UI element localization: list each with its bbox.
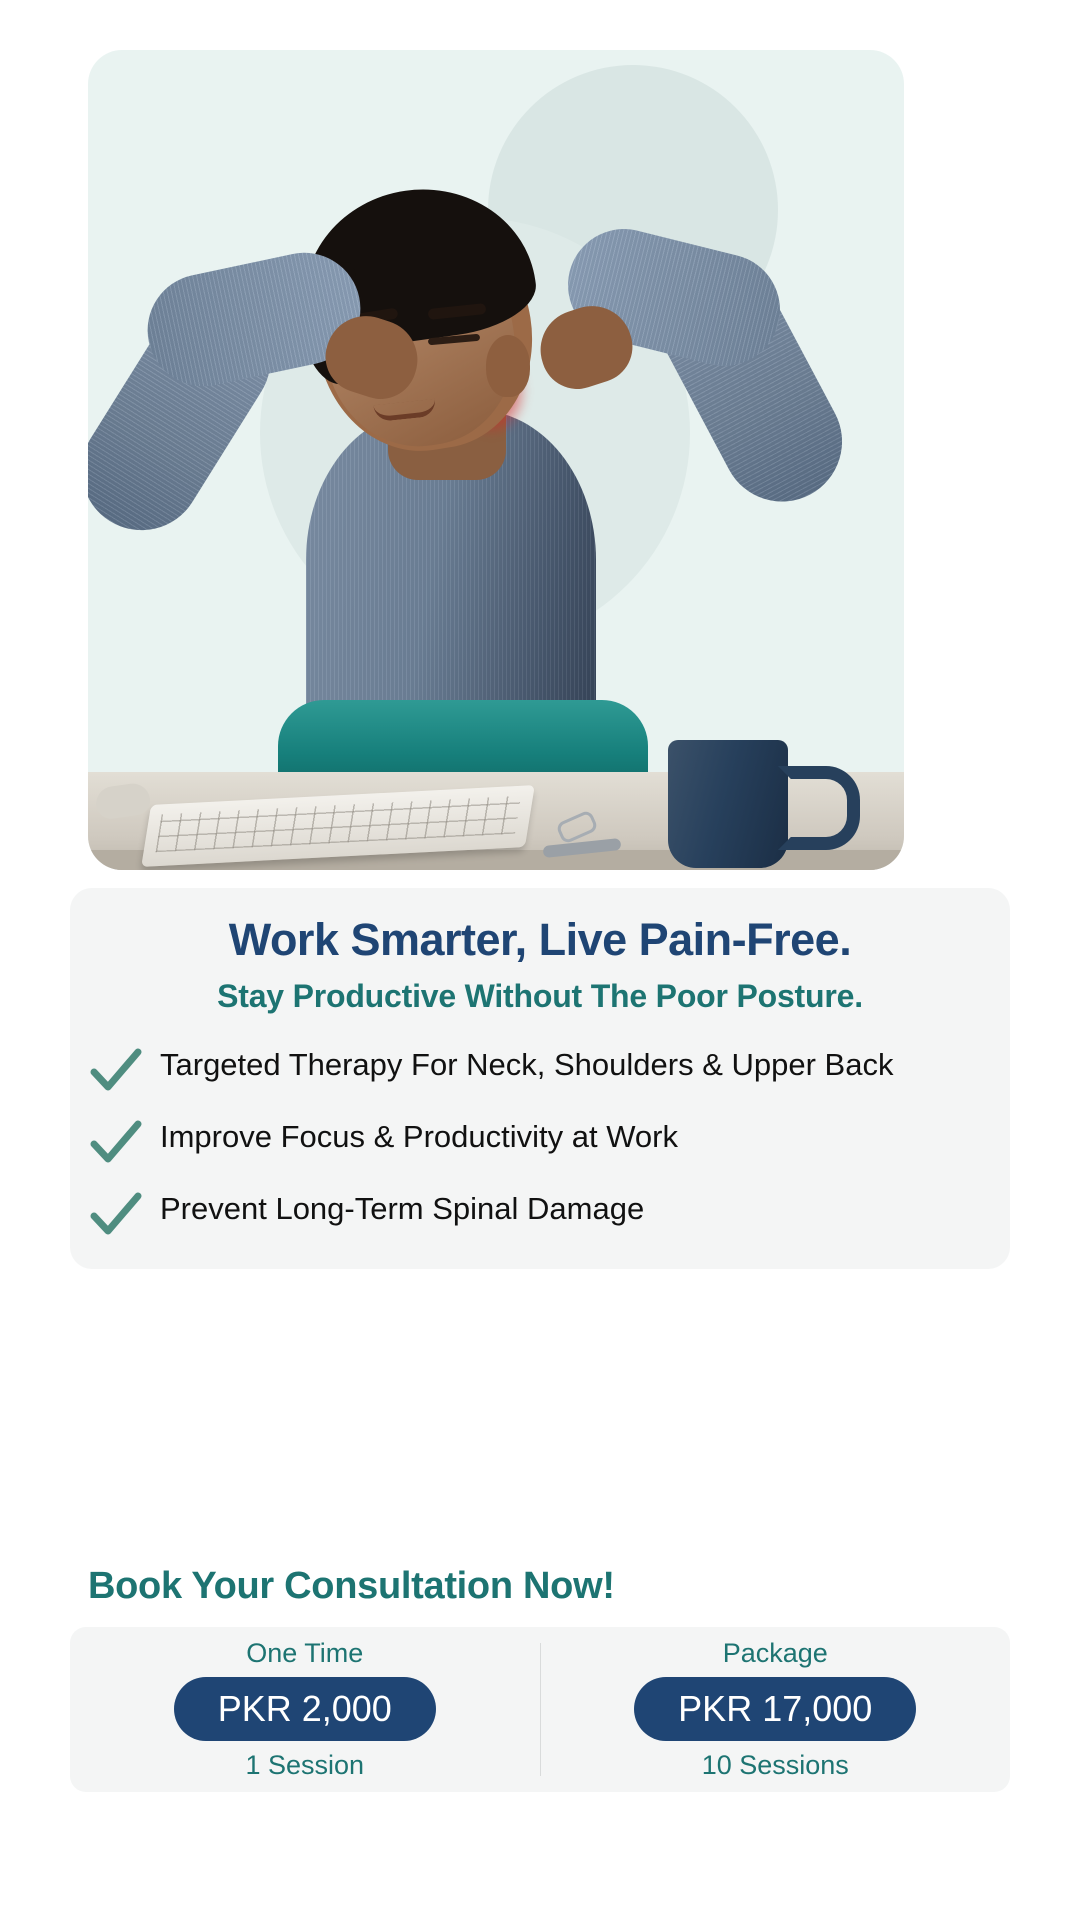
pricing-table: One Time PKR 2,000 1 Session Package PKR… xyxy=(70,1627,1010,1792)
content-card: Work Smarter, Live Pain-Free. Stay Produ… xyxy=(70,888,1010,1269)
pricing-option-package[interactable]: Package PKR 17,000 10 Sessions xyxy=(541,1627,1011,1792)
price-button[interactable]: PKR 17,000 xyxy=(634,1677,916,1740)
list-item: Prevent Long-Term Spinal Damage xyxy=(88,1189,982,1239)
promo-flyer-page: Work Smarter, Live Pain-Free. Stay Produ… xyxy=(0,0,1080,1920)
page-subtitle: Stay Productive Without The Poor Posture… xyxy=(70,978,1010,1015)
page-title: Work Smarter, Live Pain-Free. xyxy=(70,914,1010,966)
price-sessions-label: 1 Session xyxy=(245,1752,364,1779)
cta-title: Book Your Consultation Now! xyxy=(88,1565,615,1608)
benefit-text: Prevent Long-Term Spinal Damage xyxy=(160,1189,982,1229)
benefit-text: Improve Focus & Productivity at Work xyxy=(160,1117,982,1157)
ear xyxy=(486,335,530,397)
price-button[interactable]: PKR 2,000 xyxy=(174,1677,436,1740)
benefits-list: Targeted Therapy For Neck, Shoulders & U… xyxy=(70,1045,1010,1239)
check-icon xyxy=(88,1119,144,1167)
price-sessions-label: 10 Sessions xyxy=(702,1752,849,1779)
benefit-text: Targeted Therapy For Neck, Shoulders & U… xyxy=(160,1045,982,1085)
coffee-mug-handle xyxy=(778,766,860,850)
hero-image xyxy=(88,50,904,870)
list-item: Targeted Therapy For Neck, Shoulders & U… xyxy=(88,1045,982,1095)
list-item: Improve Focus & Productivity at Work xyxy=(88,1117,982,1167)
pricing-option-one-time[interactable]: One Time PKR 2,000 1 Session xyxy=(70,1627,540,1792)
check-icon xyxy=(88,1191,144,1239)
check-icon xyxy=(88,1047,144,1095)
coffee-mug-icon xyxy=(668,740,788,868)
price-plan-label: One Time xyxy=(246,1640,363,1667)
price-plan-label: Package xyxy=(723,1640,828,1667)
